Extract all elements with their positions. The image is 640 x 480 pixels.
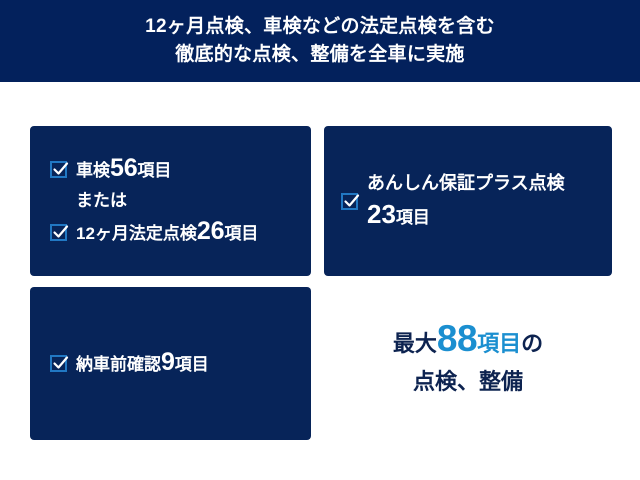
summary-unit: 項目 [477, 331, 521, 356]
summary-line-2: 点検、整備 [324, 363, 612, 401]
card-warranty-plus-inspection: あんしん保証プラス点検 23項目 [324, 126, 612, 276]
header-title-line-2: 徹底的な点検、整備を全車に実施 [175, 41, 465, 69]
infographic-page: 12ヶ月点検、車検などの法定点検を含む 徹底的な点検、整備を全車に実施 車検56… [0, 0, 640, 480]
checkbox-checked-icon [50, 355, 67, 372]
predelivery-label-suffix: 項目 [175, 355, 209, 374]
card-predelivery-check: 納車前確認9項目 [30, 287, 311, 440]
card-vehicle-inspection-content: 車検56項目 または 12ヶ月法定点検26項目 [30, 126, 311, 276]
warranty-count: 23 [367, 199, 396, 229]
predelivery-row: 納車前確認9項目 [30, 350, 311, 377]
summary-line-1: 最大88項目の [324, 320, 612, 363]
inspection-label-shaken-prefix: 車検 [76, 161, 110, 180]
card-warranty-content: あんしん保証プラス点検 23項目 [324, 126, 612, 276]
header-band: 12ヶ月点検、車検などの法定点検を含む 徹底的な点検、整備を全車に実施 [0, 0, 640, 82]
checkbox-checked-icon [341, 193, 358, 210]
checkbox-checked-icon [50, 224, 67, 241]
warranty-count-suffix: 項目 [396, 208, 430, 227]
inspection-label-shaken: 車検56項目 [76, 156, 171, 183]
summary-particle: の [521, 331, 543, 356]
inspection-label-12month: 12ヶ月法定点検26項目 [76, 219, 258, 246]
predelivery-count: 9 [161, 348, 175, 376]
predelivery-label: 納車前確認9項目 [76, 350, 209, 377]
summary-prefix: 最大 [393, 331, 437, 356]
inspection-label-12month-prefix: 12ヶ月法定点検 [76, 224, 197, 243]
inspection-count-shaken: 56 [110, 154, 137, 182]
checkbox-checked-icon [50, 161, 67, 178]
summary-total-count: 88 [437, 318, 477, 359]
warranty-text-block: あんしん保証プラス点検 23項目 [367, 168, 565, 234]
header-title-line-1: 12ヶ月点検、車検などの法定点検を含む [145, 13, 495, 41]
card-predelivery-content: 納車前確認9項目 [30, 287, 311, 440]
warranty-count-line: 23項目 [367, 198, 565, 234]
inspection-label-12month-suffix: 項目 [224, 224, 258, 243]
inspection-row-shaken: 車検56項目 [30, 156, 311, 183]
inspection-row-12month: 12ヶ月法定点検26項目 [30, 219, 311, 246]
card-vehicle-inspection: 車検56項目 または 12ヶ月法定点検26項目 [30, 126, 311, 276]
warranty-label: あんしん保証プラス点検 [367, 168, 565, 198]
inspection-label-shaken-suffix: 項目 [137, 161, 171, 180]
inspection-label-or: または [76, 189, 127, 213]
inspection-count-12month: 26 [197, 217, 224, 245]
predelivery-label-prefix: 納車前確認 [76, 355, 161, 374]
inspection-row-or: または [30, 189, 311, 213]
summary-total-block: 最大88項目の 点検、整備 [324, 320, 612, 401]
